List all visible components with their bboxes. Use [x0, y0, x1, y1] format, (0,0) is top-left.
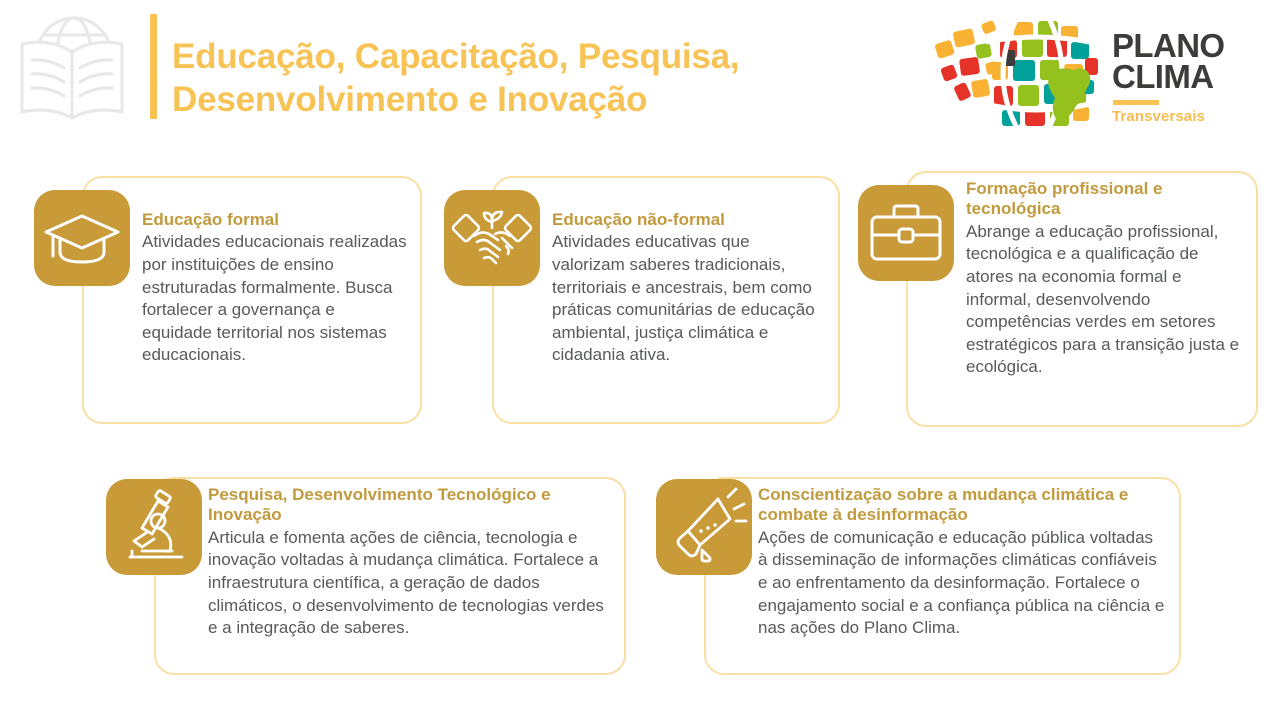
logo-wordmark: PLANO CLIMA Transversais: [1112, 30, 1262, 125]
card-description: Abrange a educação profissional, tecnoló…: [966, 221, 1244, 379]
handshake-sprout-icon: [444, 190, 540, 286]
graduation-cap-icon: [34, 190, 130, 286]
briefcase-icon: [858, 185, 954, 281]
microscope-icon: [106, 479, 202, 575]
card-pesquisa-desenvolvimento: Pesquisa, Desenvolvimento Tecnológico e …: [104, 477, 626, 675]
card-educacao-nao-formal: Educação não-formal Atividades educativa…: [444, 176, 840, 424]
card-formacao-profissional: Formação profissional e tecnológica Abra…: [858, 171, 1258, 427]
card-content: Educação formal Atividades educacionais …: [142, 210, 408, 367]
card-description: Atividades educativas que valorizam sabe…: [552, 231, 826, 367]
card-content: Formação profissional e tecnológica Abra…: [966, 179, 1244, 379]
logo-word-clima: CLIMA: [1112, 61, 1262, 92]
card-content: Conscientização sobre a mudança climátic…: [758, 485, 1167, 640]
card-title: Conscientização sobre a mudança climátic…: [758, 485, 1167, 526]
megaphone-icon: [656, 479, 752, 575]
card-description: Ações de comunicação e educação pública …: [758, 527, 1167, 640]
header-accent-bar: [150, 14, 157, 119]
card-title: Educação não-formal: [552, 210, 826, 230]
page-title: Educação, Capacitação, Pesquisa, Desenvo…: [172, 36, 892, 121]
card-description: Articula e fomenta ações de ciência, tec…: [208, 527, 612, 640]
card-title: Pesquisa, Desenvolvimento Tecnológico e …: [208, 485, 612, 526]
card-description: Atividades educacionais realizadas por i…: [142, 231, 408, 367]
open-book-globe-icon: [14, 8, 126, 130]
page-title-line-1: Educação, Capacitação, Pesquisa,: [172, 36, 892, 79]
logo-subtitle: Transversais: [1112, 108, 1262, 125]
card-educacao-formal: Educação formal Atividades educacionais …: [34, 176, 422, 424]
card-title: Formação profissional e tecnológica: [966, 179, 1244, 220]
card-conscientizacao: Conscientização sobre a mudança climátic…: [654, 477, 1181, 675]
card-content: Pesquisa, Desenvolvimento Tecnológico e …: [208, 485, 612, 640]
logo-underline: [1113, 100, 1159, 105]
card-title: Educação formal: [142, 210, 408, 230]
logo-word-plano: PLANO: [1112, 30, 1262, 61]
page-title-line-2: Desenvolvimento e Inovação: [172, 79, 892, 122]
card-content: Educação não-formal Atividades educativa…: [552, 210, 826, 367]
plano-clima-logo: PLANO CLIMA Transversais: [930, 12, 1270, 137]
mosaic-globe-icon: [930, 14, 1106, 132]
